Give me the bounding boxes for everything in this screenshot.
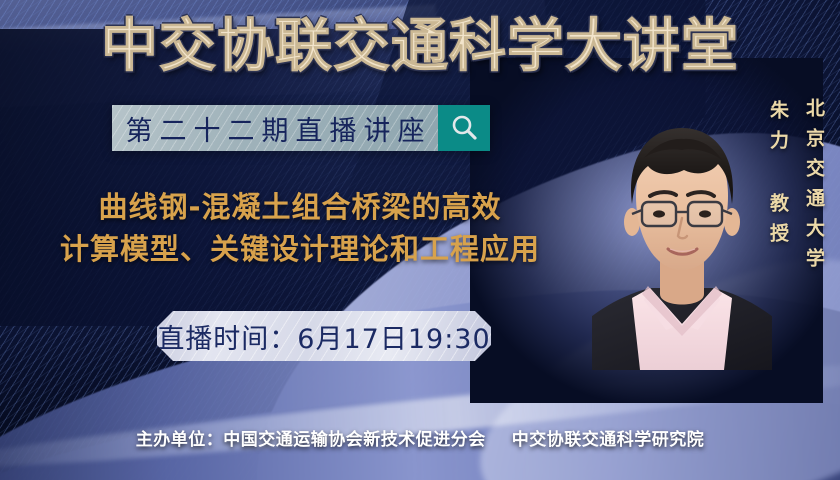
speaker-organization: 北京交通大学 bbox=[801, 98, 828, 278]
speaker-portrait bbox=[592, 118, 772, 370]
lecture-topic-line-2: 计算模型、关键设计理论和工程应用 bbox=[0, 228, 600, 270]
episode-label: 第二十二期直播讲座 bbox=[119, 109, 432, 148]
search-icon[interactable] bbox=[438, 105, 490, 151]
footer-organizers: 主办单位：中国交通运输协会新技术促进分会中交协联交通科学研究院 bbox=[0, 425, 840, 450]
livestream-poster: 北京交通大学 朱力 教授 中交协联交通科学大讲堂 第二十二期直播讲座 曲线钢-混… bbox=[0, 0, 840, 480]
lecture-topic: 曲线钢-混凝土组合桥梁的高效 计算模型、关键设计理论和工程应用 bbox=[0, 186, 600, 270]
episode-banner: 第二十二期直播讲座 bbox=[112, 105, 490, 151]
speaker-name: 朱力 教授 bbox=[765, 100, 792, 253]
broadcast-time-badge: 直播时间：6月17日19:30 bbox=[157, 311, 491, 361]
lecture-topic-line-1: 曲线钢-混凝土组合桥梁的高效 bbox=[0, 186, 600, 228]
page-title: 中交协联交通科学大讲堂 bbox=[0, 14, 840, 78]
footer-organizer-1: 中国交通运输协会新技术促进分会 bbox=[223, 430, 486, 450]
footer-organizer-label: 主办单位： bbox=[136, 430, 224, 450]
footer-organizer-2: 中交协联交通科学研究院 bbox=[512, 430, 705, 450]
broadcast-time-text: 直播时间：6月17日19:30 bbox=[157, 317, 490, 356]
episode-banner-body: 第二十二期直播讲座 bbox=[112, 105, 438, 151]
